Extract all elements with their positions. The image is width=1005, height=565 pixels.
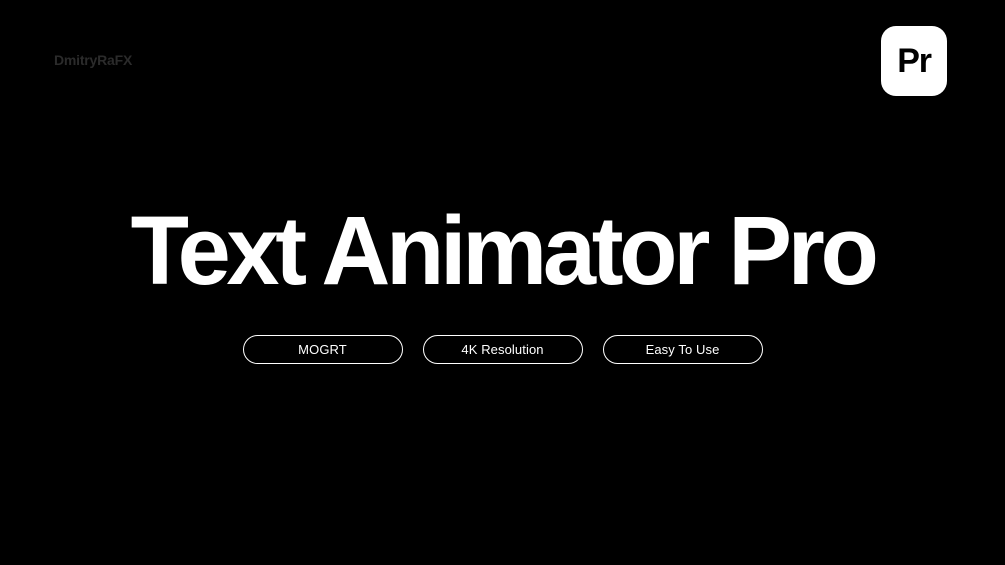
- badge-easy-to-use: Easy To Use: [603, 335, 763, 364]
- page-title: Text Animator Pro: [131, 202, 875, 299]
- feature-badge-row: MOGRT 4K Resolution Easy To Use: [243, 335, 763, 364]
- badge-4k-resolution-label: 4K Resolution: [461, 343, 543, 356]
- badge-easy-to-use-label: Easy To Use: [646, 343, 720, 356]
- badge-mogrt: MOGRT: [243, 335, 403, 364]
- badge-mogrt-label: MOGRT: [298, 343, 347, 356]
- badge-4k-resolution: 4K Resolution: [423, 335, 583, 364]
- promo-slide: DmitryRaFX Pr Text Animator Pro MOGRT 4K…: [0, 0, 1005, 565]
- hero-content: Text Animator Pro MOGRT 4K Resolution Ea…: [0, 0, 1005, 565]
